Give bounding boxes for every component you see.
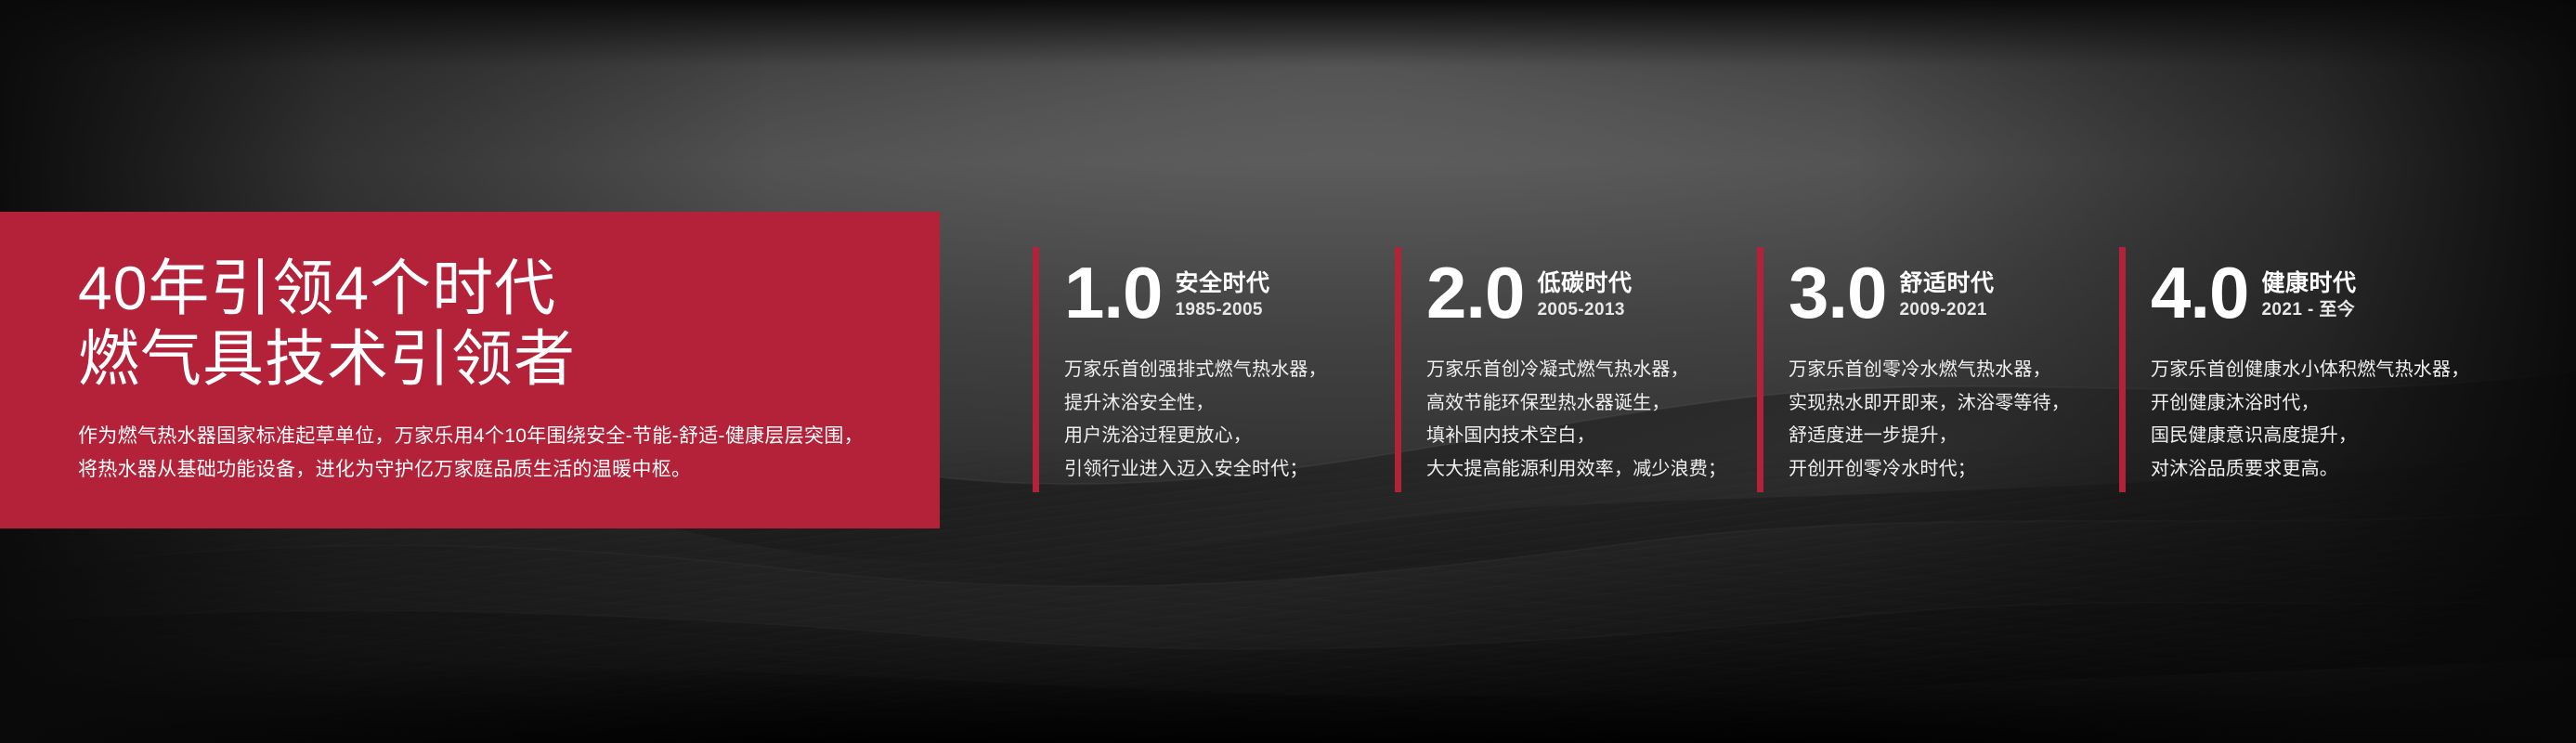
era-description-line: 万家乐首创零冷水燃气热水器， [1789,354,2119,387]
era-years: 2009-2021 [1899,299,1994,322]
page-title-line2: 燃气具技术引领者 [78,323,940,396]
era-meta: 舒适时代 2009-2021 [1899,269,1994,327]
era-meta: 低碳时代 2005-2013 [1537,269,1632,327]
headline-panel: 40年引领4个时代 燃气具技术引领者 作为燃气热水器国家标准起草单位，万家乐用4… [0,212,940,528]
era-accent-bar [1395,247,1401,492]
era-description-line: 开创健康沐浴时代， [2151,387,2481,421]
era-number: 3.0 [1789,260,1886,327]
era-title: 舒适时代 [1899,269,1994,297]
era-column-2: 2.0 低碳时代 2005-2013 万家乐首创冷凝式燃气热水器， 高效节能环保… [1395,247,1757,526]
era-timeline: 1.0 安全时代 1985-2005 万家乐首创强排式燃气热水器， 提升沐浴安全… [1033,247,2518,526]
era-number: 4.0 [2151,260,2248,327]
era-description: 万家乐首创零冷水燃气热水器， 实现热水即开即来，沐浴零等待， 舒适度进一步提升，… [1789,354,2119,486]
era-description-line: 大大提高能源利用效率，减少浪费； [1426,453,1757,487]
headline-description-line1: 作为燃气热水器国家标准起草单位，万家乐用4个10年围绕安全-节能-舒适-健康层层… [78,420,940,453]
era-description-line: 万家乐首创健康水小体积燃气热水器， [2151,354,2481,387]
era-header: 1.0 安全时代 1985-2005 [1064,247,1395,327]
era-accent-bar [1033,247,1039,492]
era-description-line: 舒适度进一步提升， [1789,420,2119,453]
era-years: 2021 - 至今 [2261,299,2356,322]
era-years: 1985-2005 [1175,299,1269,322]
era-column-4: 4.0 健康时代 2021 - 至今 万家乐首创健康水小体积燃气热水器， 开创健… [2119,247,2481,526]
era-title: 安全时代 [1175,269,1269,297]
era-header: 2.0 低碳时代 2005-2013 [1426,247,1757,327]
era-meta: 健康时代 2021 - 至今 [2261,269,2356,327]
era-description-line: 万家乐首创强排式燃气热水器， [1064,354,1395,387]
headline-description-line2: 将热水器从基础功能设备，进化为守护亿万家庭品质生活的温暖中枢。 [78,453,940,487]
era-description-line: 对沐浴品质要求更高。 [2151,453,2481,487]
era-description-line: 开创开创零冷水时代； [1789,453,2119,487]
era-accent-bar [2119,247,2126,492]
era-description-line: 高效节能环保型热水器诞生， [1426,387,1757,421]
era-description-line: 填补国内技术空白， [1426,420,1757,453]
headline-description: 作为燃气热水器国家标准起草单位，万家乐用4个10年围绕安全-节能-舒适-健康层层… [78,420,940,487]
era-description: 万家乐首创冷凝式燃气热水器， 高效节能环保型热水器诞生， 填补国内技术空白， 大… [1426,354,1757,486]
page-title-line1: 40年引领4个时代 [78,253,940,325]
era-column-3: 3.0 舒适时代 2009-2021 万家乐首创零冷水燃气热水器， 实现热水即开… [1757,247,2119,526]
era-description-line: 引领行业进入迈入安全时代； [1064,453,1395,487]
hero-banner: 40年引领4个时代 燃气具技术引领者 作为燃气热水器国家标准起草单位，万家乐用4… [0,0,2576,743]
era-number: 2.0 [1426,260,1524,327]
era-number: 1.0 [1064,260,1162,327]
era-description-line: 万家乐首创冷凝式燃气热水器， [1426,354,1757,387]
era-description-line: 实现热水即开即来，沐浴零等待， [1789,387,2119,421]
era-accent-bar [1757,247,1763,492]
era-description: 万家乐首创健康水小体积燃气热水器， 开创健康沐浴时代， 国民健康意识高度提升， … [2151,354,2481,486]
era-meta: 安全时代 1985-2005 [1175,269,1269,327]
era-header: 4.0 健康时代 2021 - 至今 [2151,247,2481,327]
era-description-line: 用户洗浴过程更放心， [1064,420,1395,453]
era-years: 2005-2013 [1537,299,1632,322]
era-header: 3.0 舒适时代 2009-2021 [1789,247,2119,327]
era-description-line: 提升沐浴安全性， [1064,387,1395,421]
era-description: 万家乐首创强排式燃气热水器， 提升沐浴安全性， 用户洗浴过程更放心， 引领行业进… [1064,354,1395,486]
era-title: 健康时代 [2261,269,2356,297]
era-column-1: 1.0 安全时代 1985-2005 万家乐首创强排式燃气热水器， 提升沐浴安全… [1033,247,1395,526]
era-title: 低碳时代 [1537,269,1632,297]
era-description-line: 国民健康意识高度提升， [2151,420,2481,453]
